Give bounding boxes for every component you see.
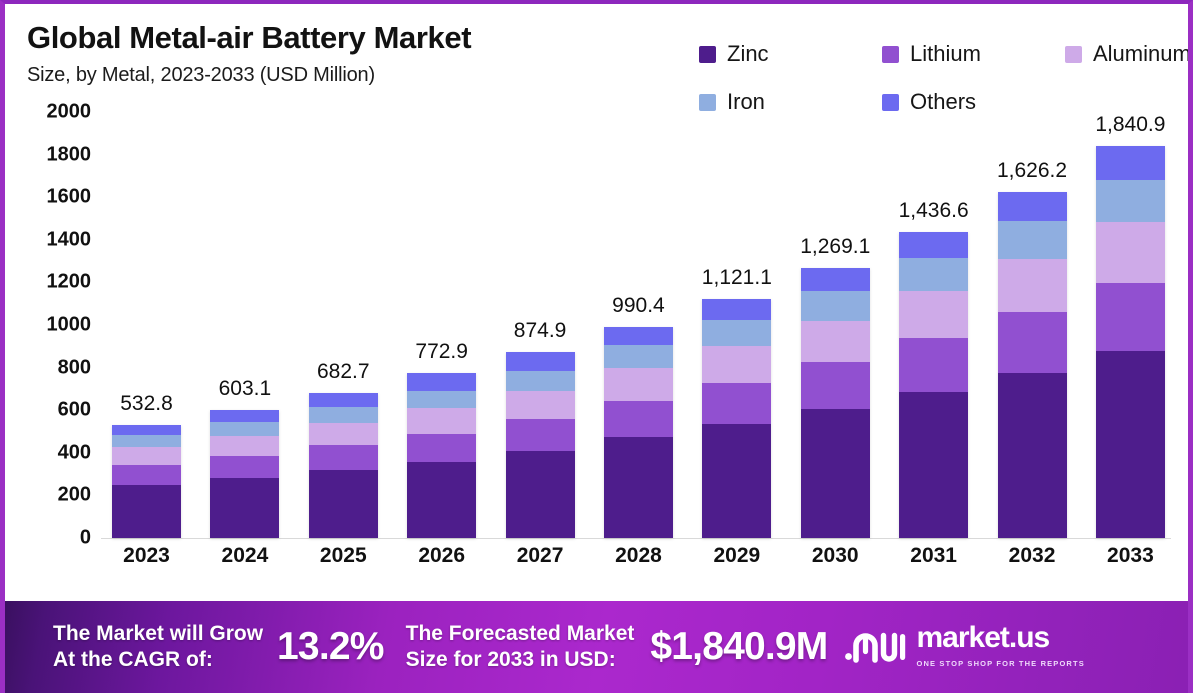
bar-stack[interactable]	[210, 410, 279, 538]
bar-stack[interactable]	[1096, 146, 1165, 538]
y-axis-tick: 1200	[13, 271, 91, 294]
legend-label: Zinc	[727, 41, 769, 67]
brand-name: market.us	[917, 621, 1050, 654]
bar-segment-zinc[interactable]	[407, 462, 476, 538]
bar-segment-lithium[interactable]	[309, 445, 378, 470]
bar-segment-others[interactable]	[899, 232, 968, 258]
legend-swatch-icon	[1065, 46, 1082, 63]
forecast-caption-line-1: The Forecasted Market	[406, 621, 635, 647]
bar-segment-iron[interactable]	[801, 291, 870, 320]
legend-swatch-icon	[882, 94, 899, 111]
bar-group: 532.8603.1682.7772.9874.9990.41,121.11,2…	[101, 112, 1176, 538]
bar-segment-zinc[interactable]	[604, 437, 673, 538]
bar-stack[interactable]	[309, 393, 378, 538]
y-axis-tick: 800	[13, 356, 91, 379]
legend-swatch-icon	[882, 46, 899, 63]
bar-segment-zinc[interactable]	[899, 392, 968, 538]
legend-label: Lithium	[910, 41, 981, 67]
bar-segment-iron[interactable]	[506, 371, 575, 391]
bar-segment-aluminum[interactable]	[506, 391, 575, 419]
x-axis-tick-2029: 2029	[691, 544, 782, 568]
bar-segment-aluminum[interactable]	[702, 346, 771, 383]
bar-segment-aluminum[interactable]	[998, 259, 1067, 312]
cagr-caption-line-1: The Market will Grow	[53, 621, 263, 647]
bar-value-label: 772.9	[415, 340, 468, 364]
legend-item-zinc[interactable]: Zinc	[699, 30, 882, 78]
bar-stack[interactable]	[604, 327, 673, 538]
bar-segment-iron[interactable]	[112, 435, 181, 447]
x-axis-tick-2028: 2028	[593, 544, 684, 568]
x-axis-tick-2031: 2031	[888, 544, 979, 568]
bar-segment-others[interactable]	[998, 192, 1067, 222]
bar-segment-zinc[interactable]	[309, 470, 378, 538]
bar-segment-iron[interactable]	[407, 391, 476, 409]
brand-tagline: ONE STOP SHOP FOR THE REPORTS	[917, 659, 1085, 668]
forecast-caption-line-2: Size for 2033 in USD:	[406, 647, 635, 673]
cagr-block: The Market will Grow At the CAGR of: 13.…	[53, 621, 384, 672]
bar-segment-lithium[interactable]	[899, 338, 968, 391]
y-axis-tick: 1600	[13, 186, 91, 209]
footer-banner: The Market will Grow At the CAGR of: 13.…	[5, 601, 1193, 693]
y-axis-tick: 0	[13, 527, 91, 550]
bar-stack[interactable]	[998, 192, 1067, 538]
y-axis-tick: 1800	[13, 143, 91, 166]
bar-segment-zinc[interactable]	[998, 373, 1067, 538]
bar-segment-lithium[interactable]	[506, 419, 575, 451]
chart-header: Global Metal-air Battery Market Size, by…	[27, 22, 687, 87]
x-axis-tick-2030: 2030	[790, 544, 881, 568]
brand-logo: market.us ONE STOP SHOP FOR THE REPORTS	[844, 623, 1193, 671]
bar-segment-zinc[interactable]	[506, 451, 575, 538]
bar-segment-iron[interactable]	[309, 407, 378, 423]
bar-segment-iron[interactable]	[899, 258, 968, 291]
x-axis: 2023202420252026202720282029203020312032…	[101, 544, 1176, 568]
plot-area: 2000180016001400120010008006004002000 53…	[5, 112, 1193, 599]
bar-segment-aluminum[interactable]	[112, 447, 181, 464]
bar-segment-others[interactable]	[210, 410, 279, 422]
bar-segment-aluminum[interactable]	[407, 408, 476, 433]
bar-segment-zinc[interactable]	[801, 409, 870, 538]
x-axis-tick-2023: 2023	[101, 544, 192, 568]
bar-value-label: 603.1	[219, 377, 272, 401]
x-axis-tick-2032: 2032	[987, 544, 1078, 568]
bar-segment-others[interactable]	[309, 393, 378, 407]
bar-segment-lithium[interactable]	[112, 465, 181, 485]
bar-column-2033[interactable]: 1,840.9	[1085, 112, 1176, 538]
y-axis: 2000180016001400120010008006004002000	[13, 112, 91, 544]
bar-column-2025[interactable]: 682.7	[298, 112, 389, 538]
x-axis-tick-2033: 2033	[1085, 544, 1176, 568]
bar-segment-aluminum[interactable]	[309, 423, 378, 445]
y-axis-tick: 2000	[13, 101, 91, 124]
bar-segment-iron[interactable]	[998, 221, 1067, 259]
x-axis-tick-2024: 2024	[199, 544, 290, 568]
bar-value-label: 532.8	[120, 392, 173, 416]
bar-segment-others[interactable]	[407, 373, 476, 390]
bar-column-2026[interactable]: 772.9	[396, 112, 487, 538]
bar-segment-lithium[interactable]	[407, 434, 476, 462]
legend-swatch-icon	[699, 94, 716, 111]
infographic-root: Global Metal-air Battery Market Size, by…	[0, 0, 1193, 693]
bar-segment-iron[interactable]	[702, 320, 771, 346]
y-axis-tick: 200	[13, 484, 91, 507]
bar-column-2024[interactable]: 603.1	[199, 112, 290, 538]
y-axis-tick: 400	[13, 441, 91, 464]
market-us-logo-icon	[844, 627, 906, 668]
bar-segment-aluminum[interactable]	[604, 368, 673, 400]
bar-stack[interactable]	[801, 268, 870, 538]
cagr-caption: The Market will Grow At the CAGR of:	[53, 621, 263, 672]
bar-column-2023[interactable]: 532.8	[101, 112, 192, 538]
brand-text: market.us ONE STOP SHOP FOR THE REPORTS	[917, 623, 1193, 671]
bar-segment-iron[interactable]	[210, 422, 279, 436]
bar-segment-zinc[interactable]	[210, 478, 279, 538]
legend-item-lithium[interactable]: Lithium	[882, 30, 1065, 78]
y-axis-tick: 1400	[13, 228, 91, 251]
bar-segment-iron[interactable]	[604, 345, 673, 368]
bar-stack[interactable]	[506, 352, 575, 538]
bar-segment-others[interactable]	[801, 268, 870, 291]
bar-segment-aluminum[interactable]	[1096, 222, 1165, 282]
bar-column-2032[interactable]: 1,626.2	[987, 112, 1078, 538]
bar-value-label: 1,840.9	[1095, 113, 1165, 137]
chart-subtitle: Size, by Metal, 2023-2033 (USD Million)	[27, 64, 687, 87]
bar-value-label: 1,121.1	[702, 266, 772, 290]
bar-segment-aluminum[interactable]	[801, 321, 870, 363]
bar-value-label: 682.7	[317, 360, 370, 384]
bar-value-label: 1,626.2	[997, 159, 1067, 183]
bar-segment-others[interactable]	[112, 425, 181, 436]
bar-stack[interactable]	[407, 373, 476, 538]
bar-column-2030[interactable]: 1,269.1	[790, 112, 881, 538]
y-axis-tick: 600	[13, 399, 91, 422]
cagr-value: 13.2%	[277, 625, 384, 669]
bar-segment-zinc[interactable]	[1096, 351, 1165, 538]
bar-column-2028[interactable]: 990.4	[593, 112, 684, 538]
bar-segment-iron[interactable]	[1096, 180, 1165, 223]
forecast-block: The Forecasted Market Size for 2033 in U…	[406, 621, 828, 672]
legend-swatch-icon	[699, 46, 716, 63]
bar-stack[interactable]	[899, 232, 968, 538]
bar-segment-lithium[interactable]	[998, 312, 1067, 372]
bar-value-label: 1,436.6	[899, 199, 969, 223]
page-title: Global Metal-air Battery Market	[27, 22, 687, 55]
bar-stack[interactable]	[112, 425, 181, 538]
bar-segment-aluminum[interactable]	[210, 436, 279, 456]
bar-segment-zinc[interactable]	[112, 485, 181, 538]
bar-column-2031[interactable]: 1,436.6	[888, 112, 979, 538]
x-axis-tick-2027: 2027	[495, 544, 586, 568]
bar-segment-lithium[interactable]	[604, 401, 673, 437]
forecast-value: $1,840.9M	[650, 625, 827, 669]
bar-value-label: 990.4	[612, 294, 665, 318]
bar-segment-others[interactable]	[506, 352, 575, 371]
bar-column-2029[interactable]: 1,121.1	[691, 112, 782, 538]
bar-segment-lithium[interactable]	[1096, 283, 1165, 351]
x-axis-line	[101, 538, 1171, 539]
bar-value-label: 1,269.1	[800, 235, 870, 259]
legend-item-aluminum[interactable]: Aluminum	[1065, 30, 1193, 78]
forecast-caption: The Forecasted Market Size for 2033 in U…	[406, 621, 635, 672]
bar-segment-others[interactable]	[1096, 146, 1165, 180]
x-axis-tick-2025: 2025	[298, 544, 389, 568]
y-axis-tick: 1000	[13, 314, 91, 337]
bar-value-label: 874.9	[514, 319, 567, 343]
bar-segment-others[interactable]	[702, 299, 771, 320]
bar-segment-lithium[interactable]	[801, 362, 870, 409]
x-axis-tick-2026: 2026	[396, 544, 487, 568]
bar-segment-aluminum[interactable]	[899, 291, 968, 338]
bar-segment-zinc[interactable]	[702, 424, 771, 538]
bar-segment-lithium[interactable]	[702, 383, 771, 424]
legend-label: Aluminum	[1093, 41, 1191, 67]
bar-column-2027[interactable]: 874.9	[495, 112, 586, 538]
bar-stack[interactable]	[702, 299, 771, 538]
cagr-caption-line-2: At the CAGR of:	[53, 647, 263, 673]
bar-segment-others[interactable]	[604, 327, 673, 345]
bar-segment-lithium[interactable]	[210, 456, 279, 478]
